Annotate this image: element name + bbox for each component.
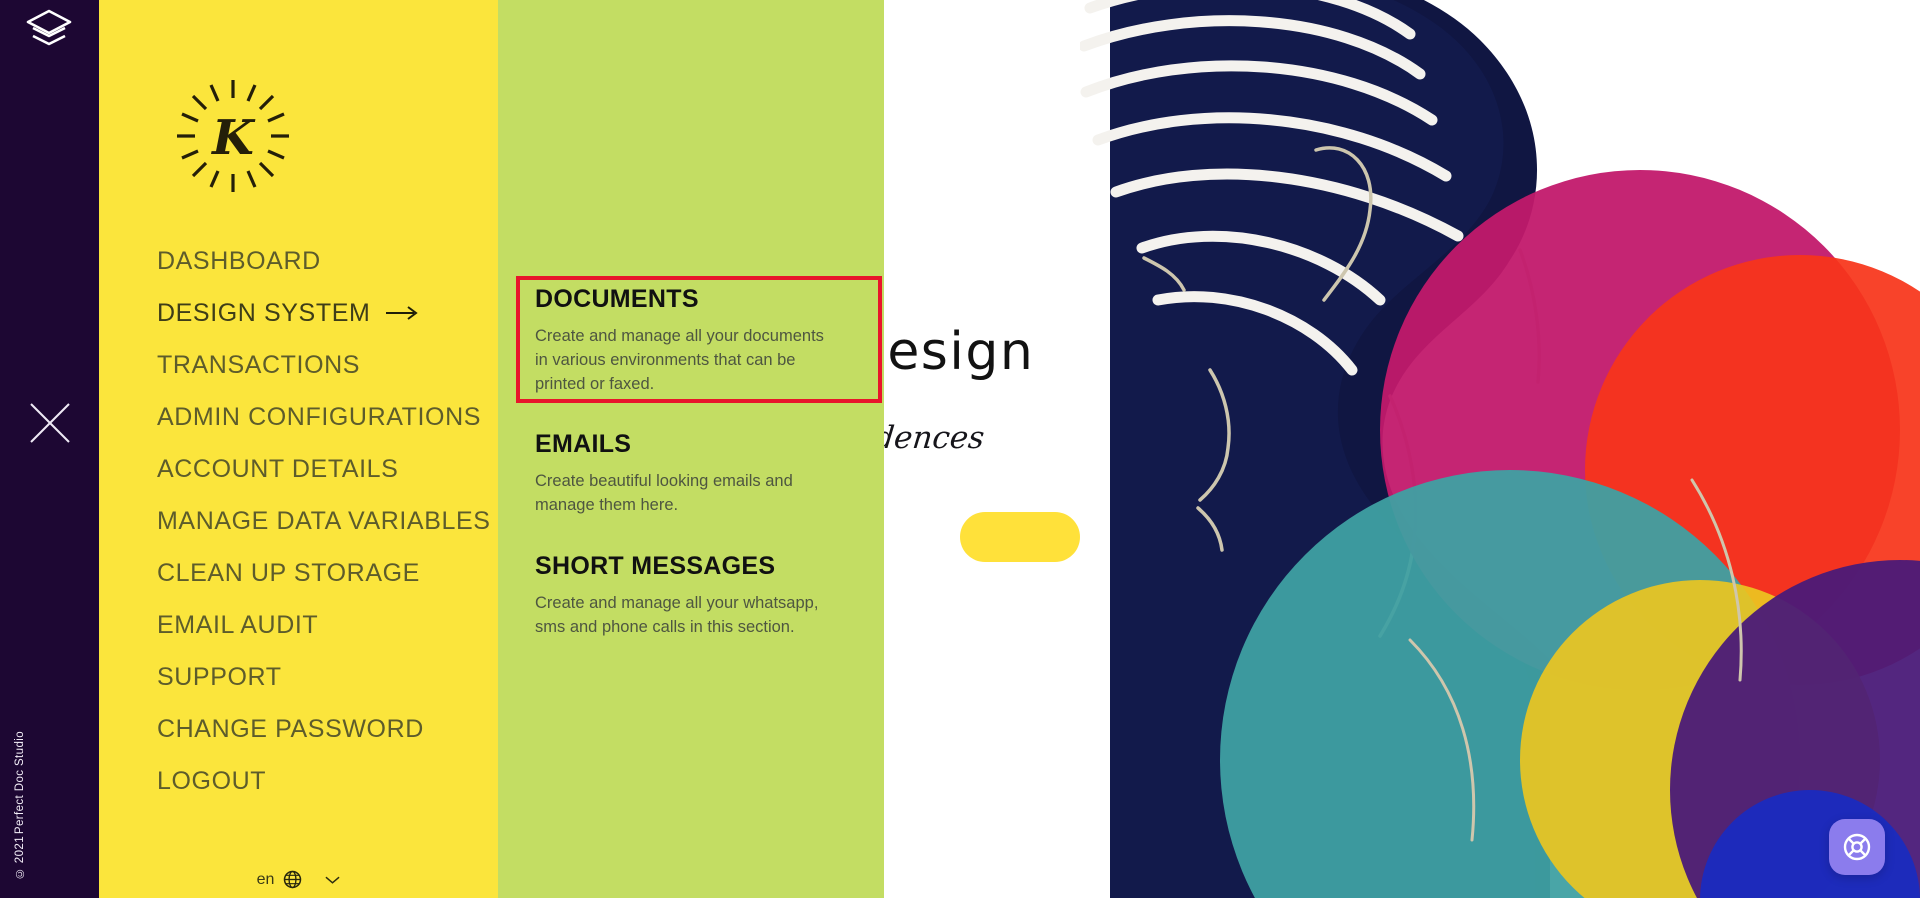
close-icon[interactable] xyxy=(25,398,75,448)
nav-list: DASHBOARD DESIGN SYSTEM TRANSACTIONS ADM… xyxy=(99,235,498,807)
nav-label-account-details: ACCOUNT DETAILS xyxy=(157,455,398,484)
nav-item-support[interactable]: SUPPORT xyxy=(99,651,498,703)
nav-item-account-details[interactable]: ACCOUNT DETAILS xyxy=(99,443,498,495)
nav-label-email-audit: EMAIL AUDIT xyxy=(157,611,318,640)
nav-item-dashboard[interactable]: DASHBOARD xyxy=(99,235,498,287)
submenu-item-short-messages[interactable]: SHORT MESSAGES Create and manage all you… xyxy=(535,552,875,640)
submenu-desc-documents: Create and manage all your documents in … xyxy=(535,325,835,397)
language-selector[interactable]: en xyxy=(99,870,498,889)
support-fab-button[interactable] xyxy=(1829,819,1885,875)
nav-label-design-system: DESIGN SYSTEM xyxy=(157,299,370,328)
submenu-title-short-messages: SHORT MESSAGES xyxy=(535,552,875,581)
chevron-down-icon xyxy=(325,875,340,885)
hero-cta-button[interactable] xyxy=(960,512,1080,562)
nav-item-clean-up-storage[interactable]: CLEAN UP STORAGE xyxy=(99,547,498,599)
nav-item-transactions[interactable]: TRANSACTIONS xyxy=(99,339,498,391)
submenu-desc-short-messages: Create and manage all your whatsapp, sms… xyxy=(535,592,835,640)
product-name-text: Perfect Doc Studio xyxy=(14,731,26,834)
submenu-title-emails: EMAILS xyxy=(535,430,875,459)
submenu-item-emails[interactable]: EMAILS Create beautiful looking emails a… xyxy=(535,430,875,518)
main-navigation-panel: K DASHBOARD DESIGN SYSTEM TRANSACTIONS A… xyxy=(99,0,498,903)
nav-label-transactions: TRANSACTIONS xyxy=(157,351,360,380)
language-code: en xyxy=(257,871,275,889)
left-rail: © 2021 Perfect Doc Studio xyxy=(0,0,99,903)
nav-label-change-password: CHANGE PASSWORD xyxy=(157,715,424,744)
nav-label-support: SUPPORT xyxy=(157,663,282,692)
nav-label-clean-up-storage: CLEAN UP STORAGE xyxy=(157,559,420,588)
globe-icon xyxy=(283,870,302,889)
rail-footer: © 2021 Perfect Doc Studio xyxy=(14,731,40,879)
nav-item-design-system[interactable]: DESIGN SYSTEM xyxy=(99,287,498,339)
sunburst-k-logo-icon: K xyxy=(175,78,291,194)
nav-label-manage-data-variables: MANAGE DATA VARIABLES xyxy=(157,507,491,536)
nav-item-admin-configurations[interactable]: ADMIN CONFIGURATIONS xyxy=(99,391,498,443)
bottom-strip xyxy=(0,898,1920,903)
stacked-layers-logo-icon[interactable] xyxy=(25,8,73,52)
nav-label-admin-configurations: ADMIN CONFIGURATIONS xyxy=(157,403,481,432)
submenu-title-documents: DOCUMENTS xyxy=(535,285,875,314)
submenu-desc-emails: Create beautiful looking emails and mana… xyxy=(535,470,835,518)
nav-label-dashboard: DASHBOARD xyxy=(157,247,321,276)
svg-text:K: K xyxy=(210,110,256,166)
hero-illustration xyxy=(1080,0,1920,903)
app-root: To Design spondences xyxy=(0,0,1920,903)
submenu-panel: DOCUMENTS Create and manage all your doc… xyxy=(498,0,884,903)
arrow-right-icon xyxy=(386,305,420,321)
submenu-item-documents[interactable]: DOCUMENTS Create and manage all your doc… xyxy=(535,285,875,397)
nav-item-manage-data-variables[interactable]: MANAGE DATA VARIABLES xyxy=(99,495,498,547)
nav-item-change-password[interactable]: CHANGE PASSWORD xyxy=(99,703,498,755)
nav-item-logout[interactable]: LOGOUT xyxy=(99,755,498,807)
lifebuoy-support-icon xyxy=(1842,832,1872,862)
nav-label-logout: LOGOUT xyxy=(157,767,266,796)
copyright-text: © 2021 xyxy=(14,836,26,879)
nav-item-email-audit[interactable]: EMAIL AUDIT xyxy=(99,599,498,651)
